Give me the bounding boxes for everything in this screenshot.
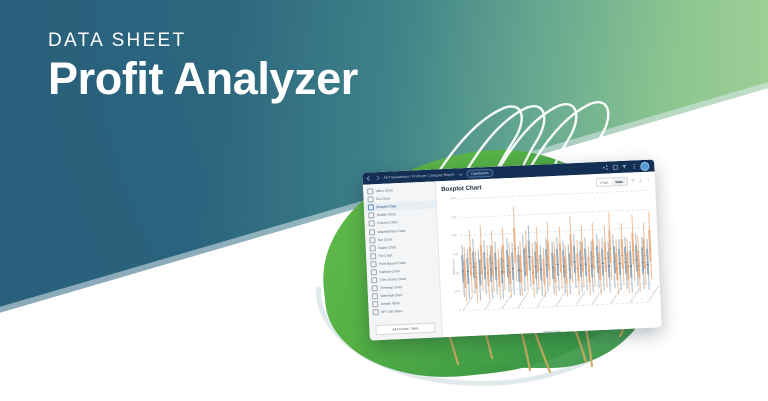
add-charts-table-button[interactable]: Add Charts / Table bbox=[375, 323, 435, 336]
sidebar-item-label: Pie Chart bbox=[376, 197, 390, 202]
eyebrow-label: DATA SHEET bbox=[48, 30, 186, 52]
more-icon[interactable] bbox=[631, 163, 637, 169]
sidebar-list: Value ChartPie ChartBoxplot ChartBubble … bbox=[363, 184, 441, 321]
chevron-down-icon[interactable] bbox=[457, 171, 463, 177]
dashboards-chip[interactable]: Dashboards bbox=[466, 169, 494, 178]
sidebar-item-label: Column Chart bbox=[377, 221, 398, 226]
sidebar-item-label: Details Table bbox=[381, 302, 400, 307]
y-tick-label: 1.0K bbox=[454, 290, 459, 293]
breadcrumb[interactable]: All Transactions / Profit per Category R… bbox=[383, 173, 454, 180]
sidebar-item-label: KPI Unit Sales bbox=[381, 309, 402, 314]
sidebar-item-label: Value Chart bbox=[376, 188, 393, 193]
back-arrow-icon[interactable] bbox=[365, 175, 371, 181]
page-title: Profit Analyzer bbox=[48, 55, 358, 102]
y-tick-label: 3.0K bbox=[453, 253, 458, 256]
app-window: All Transactions / Profit per Category R… bbox=[362, 159, 661, 340]
avatar[interactable] bbox=[640, 161, 649, 170]
app-body: Value ChartPie ChartBoxplot ChartBubble … bbox=[363, 171, 662, 340]
hero-banner: DATA SHEET Profit Analyzer All Transacti… bbox=[0, 0, 768, 401]
boxplot-chart-icon bbox=[368, 204, 374, 210]
view-toggle-table[interactable]: Table bbox=[611, 178, 626, 186]
details-table-icon bbox=[372, 301, 378, 307]
boxplot-chart: Total Revenue 01.0K2.0K3.0K4.0K5.0K6.0K … bbox=[442, 188, 657, 337]
sidebar-item-label: Waterfall Chart bbox=[380, 293, 402, 298]
sidebar-item-label: Bar Chart bbox=[378, 237, 392, 242]
view-toggle-chart[interactable]: Chart bbox=[597, 178, 612, 186]
export-icon[interactable] bbox=[638, 178, 643, 183]
time-series-icon bbox=[371, 277, 377, 283]
main-header-actions: Chart Table bbox=[596, 176, 650, 188]
sidebar-item-label: Pie Chart bbox=[379, 253, 393, 258]
bar-chart-icon bbox=[369, 237, 375, 243]
sidebar: Value ChartPie ChartBoxplot ChartBubble … bbox=[363, 181, 443, 340]
chart-title: Boxplot Chart bbox=[441, 184, 482, 193]
value-chart-icon bbox=[367, 188, 373, 194]
forward-arrow-icon[interactable] bbox=[374, 175, 380, 181]
sidebar-item-label: Pivot Based Chart bbox=[379, 261, 406, 266]
kpi-icon bbox=[373, 310, 379, 316]
y-tick-label: 0 bbox=[459, 309, 461, 312]
save-icon[interactable] bbox=[612, 164, 618, 170]
filter-icon[interactable] bbox=[630, 179, 635, 184]
sidebar-item-label: Kanban Chart bbox=[379, 269, 400, 274]
sidebar-item-label: Waterfall Bar Chart bbox=[377, 228, 405, 233]
view-toggle[interactable]: Chart Table bbox=[596, 177, 628, 188]
y-tick-label: 4.0K bbox=[452, 234, 457, 237]
y-tick-label: 6.0K bbox=[450, 197, 455, 200]
pivot-chart-icon bbox=[370, 261, 376, 267]
y-tick-label: 5.0K bbox=[451, 216, 456, 219]
sidebar-item-label: Time Series Chart bbox=[380, 277, 407, 282]
filter-icon[interactable] bbox=[621, 164, 627, 170]
column-chart-icon bbox=[369, 221, 375, 227]
main-panel: Boxplot Chart Chart Table bbox=[436, 171, 662, 337]
y-tick-label: 2.0K bbox=[454, 272, 459, 275]
sidebar-item-label: Boxplot Chart bbox=[376, 204, 396, 209]
waterfall-chart-icon bbox=[369, 229, 375, 235]
bubble-chart-icon bbox=[368, 213, 374, 219]
titlebar-actions bbox=[602, 161, 651, 172]
kanban-chart-icon bbox=[371, 269, 377, 275]
pie-chart-icon bbox=[370, 253, 376, 259]
sidebar-item-label: Bubble Chart bbox=[377, 213, 396, 218]
treemap-chart-icon bbox=[371, 285, 377, 291]
radar-chart-icon bbox=[370, 245, 376, 251]
share-icon[interactable] bbox=[602, 165, 608, 171]
sidebar-item-label: Radar Chart bbox=[378, 245, 396, 250]
more-vertical-icon[interactable] bbox=[645, 178, 650, 183]
waterfall-chart-icon bbox=[372, 293, 378, 299]
pie-chart-icon bbox=[367, 196, 373, 202]
boxplot-quartile-box bbox=[648, 230, 651, 262]
sidebar-item-label: Treemap Chart bbox=[380, 285, 402, 290]
